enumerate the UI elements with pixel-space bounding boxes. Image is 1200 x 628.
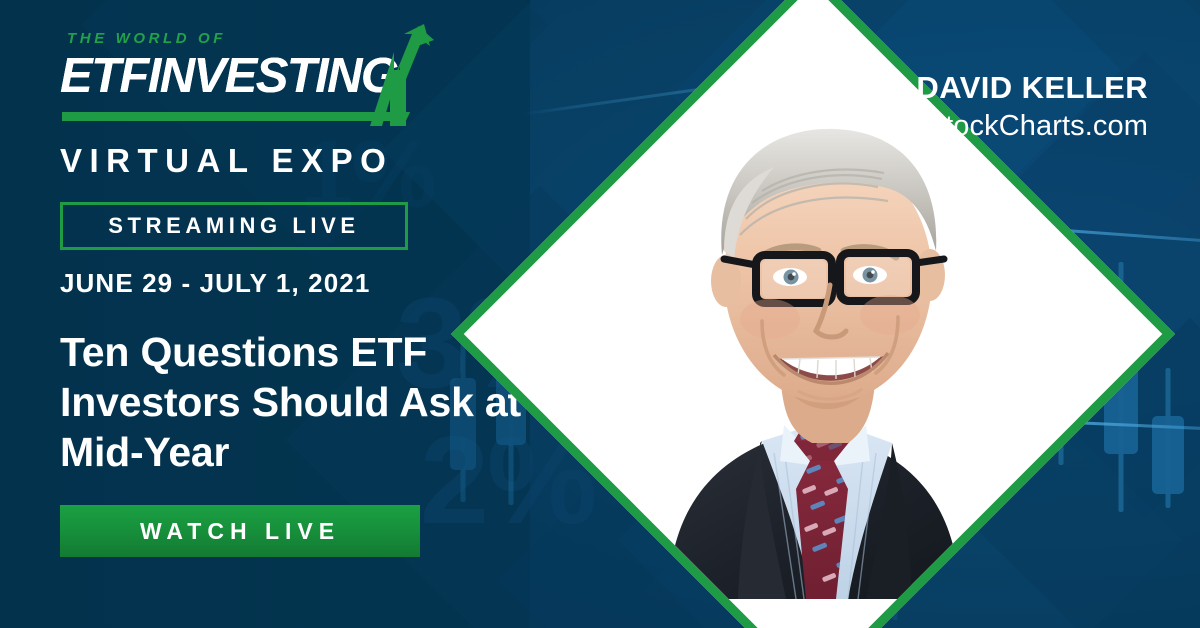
watch-live-button[interactable]: WATCH LIVE [60, 505, 420, 557]
logo-underline-bar [62, 112, 392, 121]
speaker-name: DAVID KELLER [916, 70, 1148, 106]
speaker-portrait-image [548, 69, 1078, 599]
promo-banner: 1% 3% 2% [0, 0, 1200, 628]
logo-wordmark: ETFINVESTING [60, 48, 397, 104]
watch-live-label: WATCH LIVE [140, 518, 340, 545]
streaming-live-label: STREAMING LIVE [108, 213, 359, 239]
logo-eyebrow: THE WORLD OF [67, 30, 226, 47]
speaker-info: DAVID KELLER StockCharts.com [916, 70, 1148, 144]
etf-investing-logo: THE WORLD OF ETFINVESTING [60, 26, 440, 136]
speaker-portrait-diamond [557, 78, 1069, 590]
event-dates: JUNE 29 - JULY 1, 2021 [60, 268, 560, 299]
up-arrow-icon [360, 22, 438, 130]
logo-subtitle: VIRTUAL EXPO [60, 142, 560, 180]
speaker-affiliation: StockCharts.com [916, 108, 1148, 144]
streaming-live-badge: STREAMING LIVE [60, 202, 408, 250]
